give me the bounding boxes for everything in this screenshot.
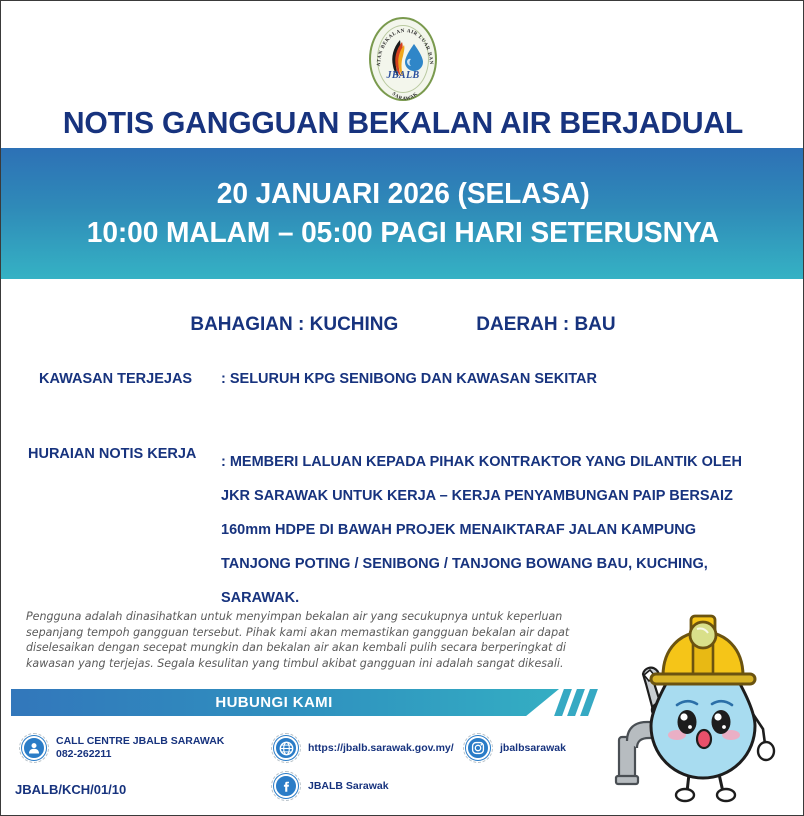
division-label: BAHAGIAN : KUCHING [190,314,398,336]
advisory-note: Pengguna adalah dinasihatkan untuk menyi… [26,609,585,671]
location-row: BAHAGIAN : KUCHING DAERAH : BAU [1,314,804,336]
logo-acronym: JBALB [371,70,435,81]
mascot-mouth [697,730,711,748]
banner-stripes-decoration [557,689,607,716]
hard-hat-icon [651,616,755,684]
contact-banner-title: HUBUNGI KAMI [215,694,332,711]
facebook-page: JBALB Sarawak [308,780,389,793]
mascot-right-arm [753,714,774,760]
contacts-section: CALL CENTRE JBALB SARAWAK 082-262211 htt… [13,731,613,811]
logo-container: JABATAN BEKALAN AIR LUAR BANDAR SARAWAK … [1,17,804,101]
logo-water-drop-icon [404,43,424,71]
date-band: 20 JANUARI 2026 (SELASA) 10:00 MALAM – 0… [0,148,804,279]
website-url: https://jbalb.sarawak.gov.my/ [308,742,454,755]
call-centre-icon-ring [19,733,49,763]
call-centre-phone: 082-262211 [56,748,224,761]
work-notice-lines: : MEMBERI LALUAN KEPADA PIHAK KONTRAKTOR… [221,445,742,615]
work-notice-line: JKR SARAWAK UNTUK KERJA – KERJA PENYAMBU… [221,479,742,513]
water-droplet-mascot-icon [613,604,793,809]
globe-icon [274,736,298,760]
work-notice-line: TANJONG POTING / SENIBONG / TANJONG BOWA… [221,547,742,581]
call-centre-name: CALL CENTRE JBALB SARAWAK [56,735,224,748]
contact-website[interactable]: https://jbalb.sarawak.gov.my/ [271,733,454,763]
contact-banner: HUBUNGI KAMI [11,689,559,716]
call-centre-text: CALL CENTRE JBALB SARAWAK 082-262211 [56,735,224,761]
work-notice-line: 160mm HDPE DI BAWAH PROJEK MENAIKTARAF J… [221,513,742,547]
time-range-text: 10:00 MALAM – 05:00 PAGI HARI SETERUSNYA [87,217,719,250]
instagram-icon [466,736,490,760]
jbalb-logo-icon: JABATAN BEKALAN AIR LUAR BANDAR SARAWAK … [369,17,437,101]
affected-area-row: KAWASAN TERJEJAS : SELURUH KPG SENIBONG … [39,371,597,387]
contact-facebook[interactable]: JBALB Sarawak [271,771,389,801]
instagram-handle: jbalbsarawak [500,742,566,755]
document-reference: JBALB/KCH/01/10 [15,782,126,797]
contact-call-centre[interactable]: CALL CENTRE JBALB SARAWAK 082-262211 [19,733,224,763]
facebook-icon [274,774,298,798]
district-label: DAERAH : BAU [476,314,615,336]
person-icon [22,736,46,760]
facebook-icon-ring [271,771,301,801]
instagram-icon-ring [463,733,493,763]
website-icon-ring [271,733,301,763]
date-text: 20 JANUARI 2026 (SELASA) [217,178,590,211]
work-notice-label: HURAIAN NOTIS KERJA [28,445,221,615]
affected-area-value: : SELURUH KPG SENIBONG DAN KAWASAN SEKIT… [221,371,597,387]
affected-area-label: KAWASAN TERJEJAS [39,371,221,387]
work-notice-line: : MEMBERI LALUAN KEPADA PIHAK KONTRAKTOR… [221,445,742,479]
work-notice-block: HURAIAN NOTIS KERJA : MEMBERI LALUAN KEP… [28,445,742,615]
page-title: NOTIS GANGGUAN BEKALAN AIR BERJADUAL [13,105,793,141]
notice-poster: JABATAN BEKALAN AIR LUAR BANDAR SARAWAK … [0,0,804,816]
contact-instagram[interactable]: jbalbsarawak [463,733,566,763]
